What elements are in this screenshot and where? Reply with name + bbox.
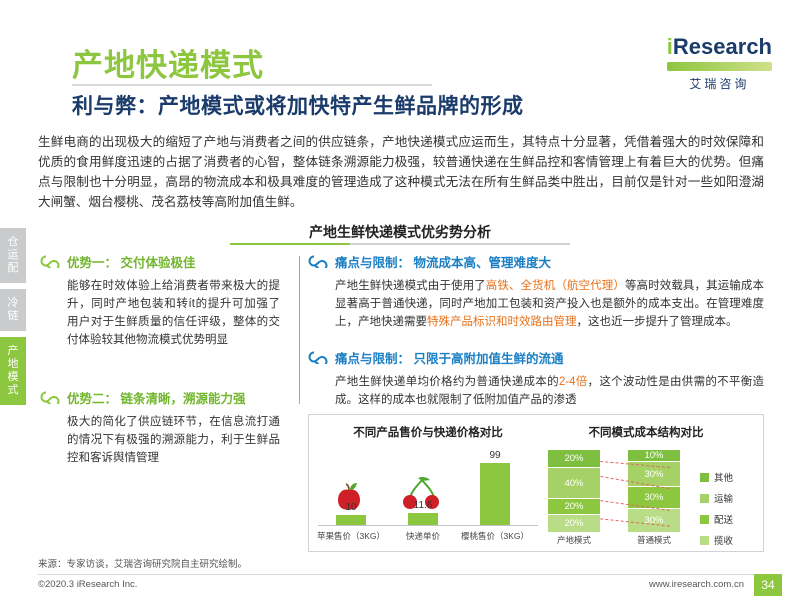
infinity-icon: [40, 254, 60, 268]
bar-value-apple: 10: [328, 502, 374, 513]
sidebar: 仓运配 冷链 产地模式: [0, 228, 26, 411]
advantage-2-heading: 优势二： 链条清晰，溯源能力强: [67, 388, 245, 407]
bar-cherry-price: [480, 463, 510, 525]
bar-label-express: 快递单价: [387, 530, 459, 542]
bar-chart: 10 11.6 99 苹果售价（3KG） 快递单价 樱桃售价（3KG）: [318, 452, 538, 542]
painpoint-1-text-a: 产地生鲜快递模式由于使用了: [335, 280, 486, 292]
legend-item-delivery: 配送: [700, 512, 733, 526]
advantage-2-block: 优势二： 链条清晰，溯源能力强 极大的简化了供应链环节，在信息流打通的情况下有极…: [40, 388, 280, 467]
logo-research: Research: [673, 34, 772, 59]
advantage-2-body: 极大的简化了供应链环节，在信息流打通的情况下有极强的溯源能力，利于生鲜品控和客诉…: [40, 413, 280, 467]
painpoint-1-highlight-b: 特殊产品标识和时效路由管理: [427, 316, 577, 328]
slide-page: 仓运配 冷链 产地模式 产地快递模式 利与弊：产地模式或将加快特产生鲜品牌的形成…: [0, 0, 800, 600]
legend-swatch-transport: [700, 494, 709, 503]
painpoint-2-body: 产地生鲜快递单均价格约为普通快递成本的2-4倍，这个波动性是由供需的不平衡造成。…: [308, 373, 764, 409]
advantage-1-heading: 优势一： 交付体验极佳: [67, 252, 195, 271]
painpoint-1-body: 产地生鲜快递模式由于使用了高铁、全货机（航空代理）等高时效载具，其运输成本显著高…: [308, 277, 764, 331]
painpoint-1-text-c: ，这也近一步提升了管理成本。: [577, 316, 738, 328]
painpoint-2-heading: 痛点与限制： 只限于高附加值生鲜的流通: [335, 348, 563, 367]
painpoint-2-heading-row: 痛点与限制： 只限于高附加值生鲜的流通: [308, 348, 764, 367]
logo-bar: [667, 62, 772, 71]
bar-label-cherry: 樱桃售价（3KG）: [459, 530, 531, 542]
infinity-icon: [308, 254, 328, 268]
advantage-1-heading-row: 优势一： 交付体验极佳: [40, 252, 280, 271]
logo-chinese: 艾瑞咨询: [667, 75, 772, 92]
painpoint-2-highlight: 2-4倍: [559, 376, 588, 388]
painpoint-1-highlight-a: 高铁、全货机（航空代理）: [486, 280, 625, 292]
bar-chart-axis: [318, 525, 538, 526]
bar-value-cherry: 99: [472, 450, 518, 461]
iresearch-logo: iResearch 艾瑞咨询: [667, 34, 772, 92]
legend-swatch-pickup: [700, 536, 709, 545]
bar-label-apple: 苹果售价（3KG）: [315, 530, 387, 542]
legend-label-other: 其他: [714, 470, 733, 484]
segment-pickup-origin: 20%: [548, 515, 600, 532]
intro-paragraph: 生鲜电商的出现极大的缩短了产地与消费者之间的供应链条，产地快递模式应运而生，其特…: [38, 132, 764, 212]
painpoint-1-block: 痛点与限制： 物流成本高、管理难度大 产地生鲜快递模式由于使用了高铁、全货机（航…: [308, 252, 764, 331]
logo-wordmark: iResearch: [667, 34, 772, 60]
legend-item-other: 其他: [700, 470, 733, 484]
legend-item-pickup: 揽收: [700, 533, 733, 547]
segment-pickup-normal: 30%: [628, 509, 680, 532]
legend-label-delivery: 配送: [714, 512, 733, 526]
legend-swatch-delivery: [700, 515, 709, 524]
website-url: www.iresearch.com.cn: [649, 579, 744, 590]
section-title: 产地生鲜快递模式优劣势分析: [0, 222, 800, 242]
infinity-icon: [308, 350, 328, 364]
legend-item-transport: 运输: [700, 491, 733, 505]
stack-normal-model: 10% 30% 30% 30%: [628, 450, 680, 532]
page-title: 产地快递模式: [72, 40, 264, 85]
stack-label-origin: 产地模式: [534, 534, 614, 546]
painpoint-2-block: 痛点与限制： 只限于高附加值生鲜的流通 产地生鲜快递单均价格约为普通快递成本的2…: [308, 348, 764, 409]
stack-label-normal: 普通模式: [614, 534, 694, 546]
bar-chart-title: 不同产品售价与快递价格对比: [318, 424, 538, 440]
copyright: ©2020.3 iResearch Inc.: [38, 579, 137, 590]
painpoint-2-text-a: 产地生鲜快递单均价格约为普通快递成本的: [335, 376, 559, 388]
legend-swatch-other: [700, 473, 709, 482]
stacked-chart-title: 不同模式成本结构对比: [546, 424, 746, 440]
footer-divider: [38, 574, 762, 575]
sidebar-item-origin-model[interactable]: 产地模式: [0, 337, 26, 405]
painpoint-1-heading: 痛点与限制： 物流成本高、管理难度大: [335, 252, 551, 271]
sidebar-item-coldchain[interactable]: 冷链: [0, 289, 26, 331]
segment-other-origin: 20%: [548, 450, 600, 468]
bar-apple-price: [336, 515, 366, 525]
infinity-icon: [40, 390, 60, 404]
painpoint-1-heading-row: 痛点与限制： 物流成本高、管理难度大: [308, 252, 764, 271]
advantage-1-block: 优势一： 交付体验极佳 能够在时效体验上给消费者带来极大的提升，同时产地包装和转…: [40, 252, 280, 349]
bar-express-price: [408, 513, 438, 525]
bar-value-express: 11.6: [400, 500, 446, 511]
section-rule: [230, 243, 570, 245]
title-divider: [72, 84, 432, 86]
advantage-1-body: 能够在时效体验上给消费者带来极大的提升，同时产地包装和转ít的提升可加强了用户对…: [40, 277, 280, 349]
column-divider: [299, 256, 300, 404]
stacked-bar-chart: 20% 40% 20% 20% 10% 30% 30% 30% 产地模式 普通模…: [538, 450, 698, 546]
legend-label-transport: 运输: [714, 491, 733, 505]
segment-delivery-origin: 20%: [548, 499, 600, 515]
legend-label-pickup: 揽收: [714, 533, 733, 547]
advantage-2-heading-row: 优势二： 链条清晰，溯源能力强: [40, 388, 280, 407]
segment-other-normal: 10%: [628, 450, 680, 462]
segment-transport-origin: 40%: [548, 468, 600, 499]
source-note: 来源：专家访谈，艾瑞咨询研究院自主研究绘制。: [38, 556, 247, 570]
page-subtitle: 利与弊：产地模式或将加快特产生鲜品牌的形成: [72, 90, 524, 120]
stack-origin-model: 20% 40% 20% 20%: [548, 450, 600, 532]
chart-legend: 其他 运输 配送 揽收: [700, 470, 733, 554]
page-number: 34: [754, 574, 782, 596]
